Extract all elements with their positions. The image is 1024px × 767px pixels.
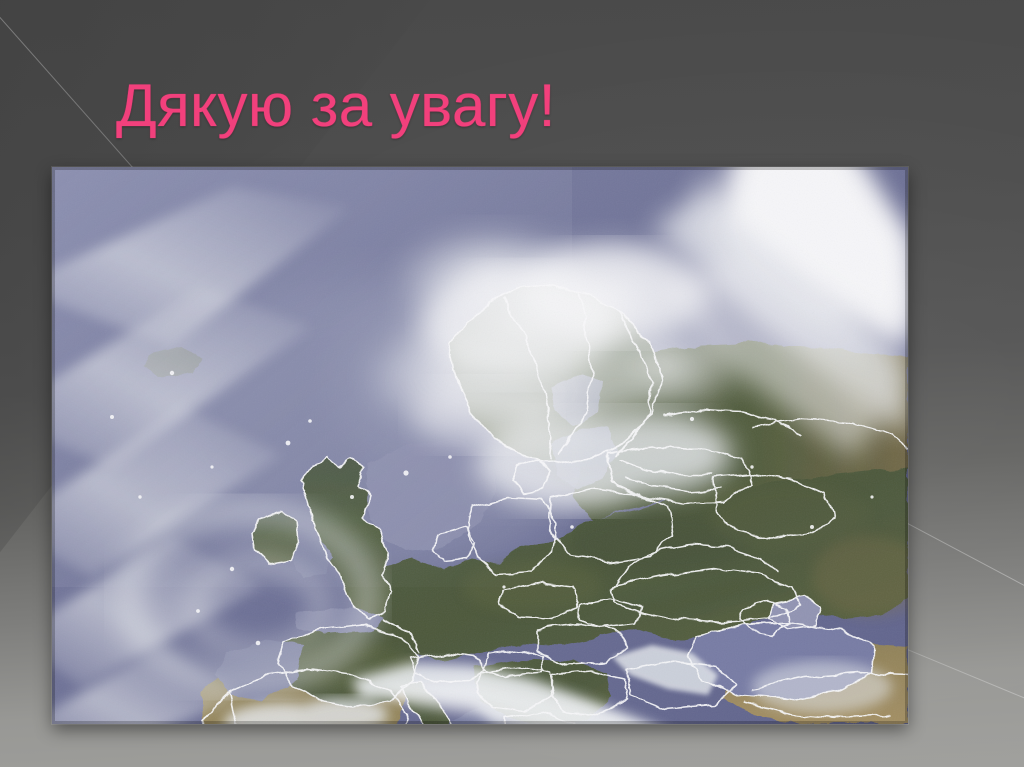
- presentation-slide: Дякую за увагу!: [0, 0, 1024, 767]
- satellite-scene-svg: [52, 167, 908, 724]
- picture-placeholder: [52, 167, 908, 724]
- satellite-scene: [52, 167, 908, 724]
- picture-reflection: [52, 741, 908, 767]
- satellite-image-of-europe[interactable]: [52, 167, 908, 724]
- slide-title: Дякую за увагу!: [116, 74, 556, 138]
